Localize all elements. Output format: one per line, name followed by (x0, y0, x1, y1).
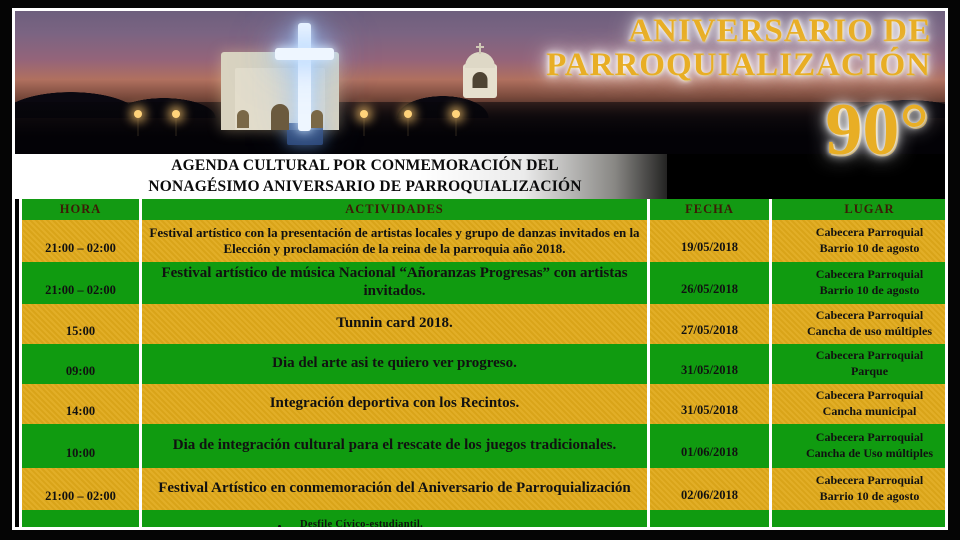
cell-lugar: Cabecera ParroquialBarrio 10 de agosto (771, 262, 949, 304)
lugar-line: Cabecera Parroquial (776, 526, 948, 530)
cell-actividad: Tunnin card 2018. (141, 304, 649, 344)
headline-line-1: ANIVERSARIO DE (546, 15, 931, 48)
agenda-table-container: HORA ACTIVIDADES FECHA LUGAR 21:00 – 02:… (15, 199, 945, 527)
lugar-line: Barrio 10 de agosto (776, 283, 948, 299)
cell-fecha: 02/06/2018 (649, 468, 771, 510)
street-lamp-icon (363, 114, 365, 136)
cell-fecha: 01/06/2018 (649, 424, 771, 468)
lugar-line: Cabecera Parroquial (776, 473, 948, 489)
table-row: 14:00Integración deportiva con los Recin… (21, 384, 949, 424)
steeple-cross-icon (479, 43, 481, 54)
poster-headline: ANIVERSARIO DE PARROQUIALIZACIÓN (546, 15, 931, 82)
illuminated-cross-icon (298, 23, 311, 131)
lugar-line: Parque (776, 364, 948, 380)
church-building (221, 52, 339, 130)
lugar-line: Cabecera Parroquial (776, 267, 948, 283)
cell-actividad: Dia del arte asi te quiero ver progreso. (141, 344, 649, 384)
church-window-right (311, 110, 323, 128)
table-row: 21:00 – 02:00Festival artístico de músic… (21, 262, 949, 304)
lugar-line: Cabecera Parroquial (776, 430, 948, 446)
cell-hora: 10:00 (21, 424, 141, 468)
agenda-title-bar: AGENDA CULTURAL POR CONMEMORACIÓN DEL NO… (15, 154, 667, 199)
cell-lugar: Cabecera ParroquialCancha municipal (771, 384, 949, 424)
lugar-line: Cancha de Uso múltiples (776, 446, 948, 462)
table-header-row: HORA ACTIVIDADES FECHA LUGAR (21, 199, 949, 220)
lugar-line: Barrio 10 de agosto (776, 241, 948, 257)
church-door (271, 104, 289, 130)
cell-actividad: Desfile Cívico-estudiantil.Sesión Conmem… (141, 510, 649, 530)
church-window-left (237, 110, 249, 128)
lugar-line: Cabecera Parroquial (776, 225, 948, 241)
cell-actividad: Integración deportiva con los Recintos. (141, 384, 649, 424)
cell-hora: 09:00 (21, 344, 141, 384)
cell-hora: 21:00 – 02:00 (21, 220, 141, 262)
table-row: 09:00Dia del arte asi te quiero ver prog… (21, 344, 949, 384)
horizon-band (15, 102, 945, 154)
cell-actividad: Dia de integración cultural para el resc… (141, 424, 649, 468)
lugar-line: Cancha de uso múltiples (776, 324, 948, 340)
activity-text: Tunnin card 2018. (336, 315, 453, 331)
street-lamp-icon (137, 114, 139, 136)
cell-hora: 10:00 (21, 510, 141, 530)
column-header-lugar: LUGAR (771, 199, 949, 220)
lugar-line: Cabecera Parroquial (776, 348, 948, 364)
cell-hora: 21:00 – 02:00 (21, 262, 141, 304)
table-row: 21:00 – 02:00Festival artístico con la p… (21, 220, 949, 262)
lugar-line: Cabecera Parroquial (776, 308, 948, 324)
cell-lugar: Cabecera ParroquialBarrio 10 de agosto (771, 220, 949, 262)
street-lamp-icon (407, 114, 409, 136)
activity-text: Dia del arte asi te quiero ver progreso. (272, 355, 517, 371)
cell-actividad: Festival artístico de música Nacional “A… (141, 262, 649, 304)
page-title-line-1: AGENDA CULTURAL POR CONMEMORACIÓN DEL (171, 156, 558, 177)
page-title-line-2: NONAGÉSIMO ANIVERSARIO DE PARROQUIALIZAC… (148, 177, 581, 198)
agenda-table: HORA ACTIVIDADES FECHA LUGAR 21:00 – 02:… (19, 199, 948, 530)
cell-actividad: Festival Artístico en conmemoración del … (141, 468, 649, 510)
street-lamp-icon (455, 114, 457, 136)
table-row: 21:00 – 02:00Festival Artístico en conme… (21, 468, 949, 510)
anniversary-number: 90° (825, 99, 929, 163)
church-bell-tower (463, 64, 497, 98)
cell-lugar: Cabecera ParroquialParque (771, 344, 949, 384)
activity-text: Integración deportiva con los Recintos. (270, 395, 520, 411)
activity-text: Festival artístico de música Nacional “A… (161, 265, 627, 299)
hero-banner-photo: ANIVERSARIO DE PARROQUIALIZACIÓN (15, 11, 945, 154)
cell-lugar: Cabecera Parroquial (771, 510, 949, 530)
poster-frame: ANIVERSARIO DE PARROQUIALIZACIÓN 90° AGE… (12, 8, 948, 530)
activity-text: Dia de integración cultural para el resc… (173, 437, 616, 453)
column-header-hora: HORA (21, 199, 141, 220)
cell-fecha: 19/05/2018 (649, 220, 771, 262)
church-dome (465, 52, 495, 68)
column-header-actividades: ACTIVIDADES (141, 199, 649, 220)
cell-hora: 21:00 – 02:00 (21, 468, 141, 510)
cell-actividad: Festival artístico con la presentación d… (141, 220, 649, 262)
lugar-line: Barrio 10 de agosto (776, 489, 948, 505)
cell-fecha: 03/06/2018 (649, 510, 771, 530)
church-belfry-opening (473, 72, 488, 88)
column-header-fecha: FECHA (649, 199, 771, 220)
cell-fecha: 26/05/2018 (649, 262, 771, 304)
cell-lugar: Cabecera ParroquialBarrio 10 de agosto (771, 468, 949, 510)
lugar-line: Cancha municipal (776, 404, 948, 420)
cell-fecha: 31/05/2018 (649, 344, 771, 384)
lugar-line: Cabecera Parroquial (776, 388, 948, 404)
agenda-table-body: 21:00 – 02:00Festival artístico con la p… (21, 220, 949, 530)
cell-hora: 15:00 (21, 304, 141, 344)
cell-lugar: Cabecera ParroquialCancha de uso múltipl… (771, 304, 949, 344)
activity-text: Festival artístico con la presentación d… (149, 225, 639, 256)
poster: ANIVERSARIO DE PARROQUIALIZACIÓN 90° AGE… (0, 0, 960, 540)
activity-bullet-item: Desfile Cívico-estudiantil. (274, 516, 643, 530)
street-lamp-icon (175, 114, 177, 136)
activity-text: Festival Artístico en conmemoración del … (158, 480, 631, 496)
cell-fecha: 27/05/2018 (649, 304, 771, 344)
cell-fecha: 31/05/2018 (649, 384, 771, 424)
activity-bullet-list: Desfile Cívico-estudiantil.Sesión Conmem… (146, 516, 643, 530)
cell-hora: 14:00 (21, 384, 141, 424)
headline-line-2: PARROQUIALIZACIÓN (546, 49, 931, 82)
table-row: 10:00Dia de integración cultural para el… (21, 424, 949, 468)
cell-lugar: Cabecera ParroquialCancha de Uso múltipl… (771, 424, 949, 468)
table-row: 10:00Desfile Cívico-estudiantil.Sesión C… (21, 510, 949, 530)
table-row: 15:00Tunnin card 2018.27/05/2018Cabecera… (21, 304, 949, 344)
